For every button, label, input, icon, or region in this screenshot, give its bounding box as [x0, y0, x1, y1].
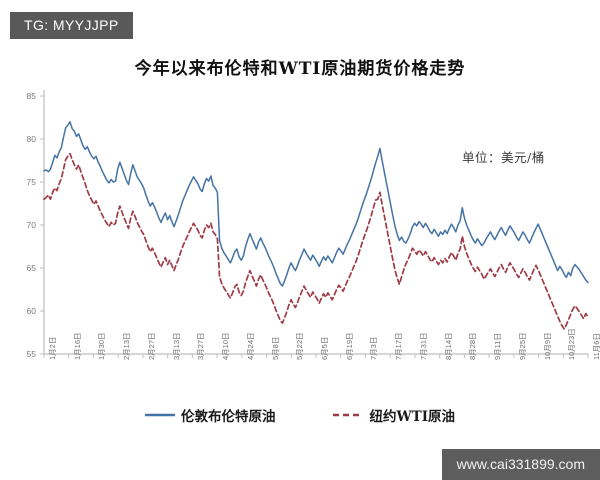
site-watermark-badge: www.cai331899.com: [442, 449, 600, 480]
legend-item-brent: 伦敦布伦特原油: [145, 405, 276, 425]
y-axis-tick-label: 70: [14, 220, 36, 230]
x-axis-tick-label: 1月30日: [96, 332, 107, 360]
x-axis-tick-label: 7月31日: [418, 332, 429, 360]
legend-swatch-wti-icon: [333, 409, 363, 421]
x-axis-tick-label: 6月19日: [344, 332, 355, 360]
legend-label-wti: 纽约WTI原油: [369, 405, 455, 425]
x-axis-tick-label: 5月22日: [294, 332, 305, 360]
x-axis-tick-label: 7月17日: [393, 332, 404, 360]
x-axis-tick-label: 5月8日: [270, 337, 281, 360]
x-axis-tick-label: 4月10日: [220, 332, 231, 360]
site-watermark-text: www.cai331899.com: [457, 456, 585, 472]
y-axis-tick-label: 60: [14, 306, 36, 316]
x-axis-tick-label: 9月25日: [517, 332, 528, 360]
y-axis-tick-label: 65: [14, 263, 36, 273]
legend-label-brent: 伦敦布伦特原油: [181, 405, 276, 425]
x-axis-tick-label: 6月5日: [319, 337, 330, 360]
legend-item-wti: 纽约WTI原油: [333, 405, 455, 425]
x-axis-tick-label: 7月3日: [368, 337, 379, 360]
x-axis-tick-label: 9月11日: [492, 333, 503, 360]
x-axis-tick-label: 3月27日: [195, 332, 206, 360]
x-axis-tick-label: 2月13日: [121, 332, 132, 360]
y-axis-tick-label: 85: [14, 91, 36, 101]
x-axis-tick-label: 3月13日: [171, 332, 182, 360]
y-axis-tick-label: 75: [14, 177, 36, 187]
x-axis-tick-label: 2月27日: [146, 332, 157, 360]
x-axis-tick-label: 10月23日: [566, 328, 577, 360]
x-axis-tick-label: 1月2日: [47, 337, 58, 360]
series-line-brent: [44, 122, 588, 286]
x-axis-tick-label: 8月14日: [443, 332, 454, 360]
x-axis-tick-label: 1月16日: [72, 332, 83, 360]
x-axis-tick-label: 11月6日: [591, 333, 600, 360]
y-axis-tick-label: 55: [14, 349, 36, 359]
x-axis-tick-label: 4月24日: [245, 332, 256, 360]
y-axis-tick-label: 80: [14, 134, 36, 144]
x-axis-tick-label: 10月9日: [542, 332, 553, 360]
chart-legend: 伦敦布伦特原油 纽约WTI原油: [0, 405, 600, 425]
legend-swatch-brent-icon: [145, 409, 175, 421]
x-axis-tick-label: 8月28日: [467, 332, 478, 360]
